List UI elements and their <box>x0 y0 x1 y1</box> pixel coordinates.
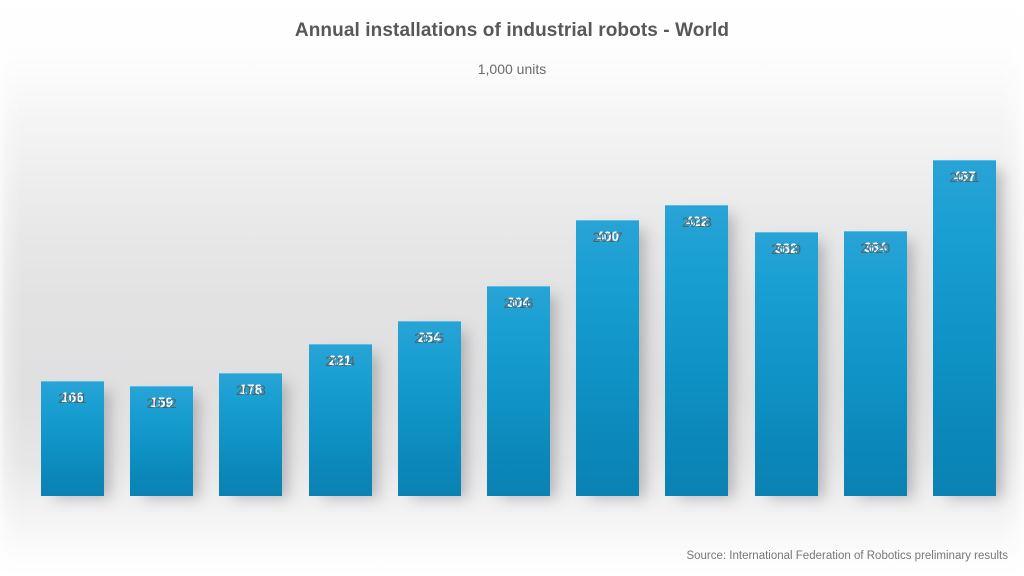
bar-group-2014: 2212014 <box>309 344 372 496</box>
bar-2021[interactable]: 487 <box>933 160 996 496</box>
bar-group-2016: 3042016 <box>487 286 550 496</box>
bar-group-2015: 2542015 <box>398 321 461 496</box>
bar-group-2011: 1662011 <box>41 381 104 496</box>
bar-group-2021: 4872021 <box>933 160 996 496</box>
bar-2015[interactable]: 254 <box>398 321 461 496</box>
x-axis-tick-2020: 2020 <box>835 241 916 256</box>
bar-group-2019: 3822019 <box>755 232 818 496</box>
x-axis-tick-2014: 2014 <box>300 354 381 369</box>
bar-2020[interactable]: 384 <box>844 231 907 496</box>
chart-source-note: Source: International Federation of Robo… <box>686 550 1008 562</box>
x-axis-tick-2018: 2018 <box>656 215 737 230</box>
x-axis-tick-2016: 2016 <box>478 296 559 311</box>
x-axis-tick-2015: 2015 <box>389 331 470 346</box>
bar-group-2013: 1782013 <box>219 373 282 496</box>
bar-group-2012: 1592012 <box>130 386 193 496</box>
x-axis-tick-2013: 2013 <box>210 383 291 398</box>
bar-group-2018: 4222018 <box>665 205 728 496</box>
bar-2016[interactable]: 304 <box>487 286 550 496</box>
bar-2019[interactable]: 382 <box>755 232 818 496</box>
x-axis-tick-2021: 2021 <box>924 170 1005 185</box>
bar-group-2017: 4002017 <box>576 220 639 496</box>
x-axis-tick-2019: 2019 <box>746 242 827 257</box>
x-axis-tick-2017: 2017 <box>567 230 648 245</box>
bar-chart-plot-area: 1662011159201217820132212014254201530420… <box>0 0 1024 576</box>
chart-slide: Annual installations of industrial robot… <box>0 0 1024 576</box>
bar-2017[interactable]: 400 <box>576 220 639 496</box>
x-axis-tick-2012: 2012 <box>121 396 202 411</box>
bar-group-2020: 3842020 <box>844 231 907 496</box>
bar-2018[interactable]: 422 <box>665 205 728 496</box>
x-axis-tick-2011: 2011 <box>32 391 113 406</box>
